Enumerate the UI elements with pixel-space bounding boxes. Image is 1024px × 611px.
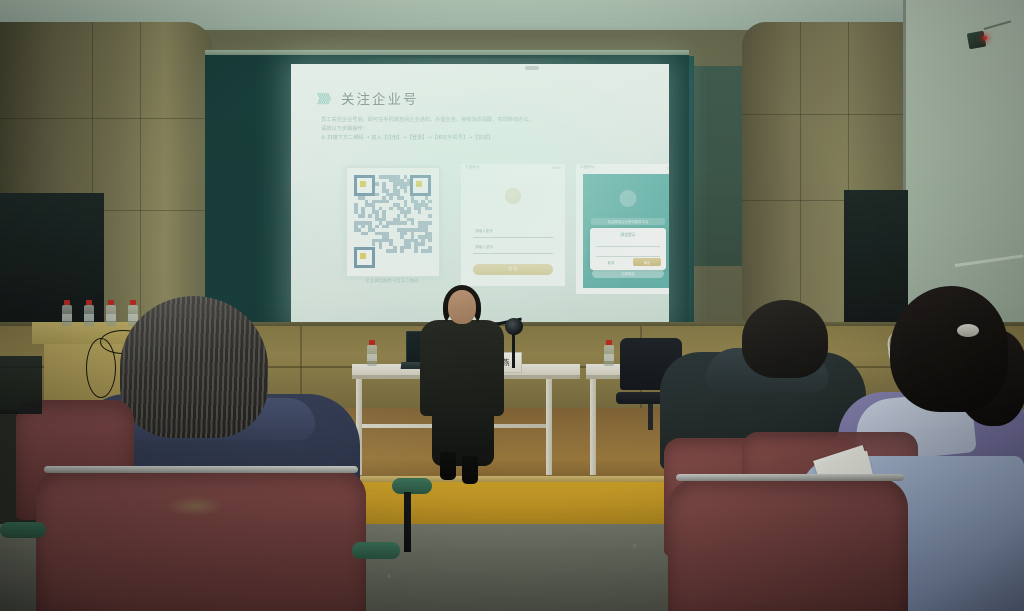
username-placeholder: 请输入账号 bbox=[475, 229, 493, 234]
qr-code-card bbox=[346, 167, 440, 277]
seat-armrest bbox=[0, 522, 46, 538]
seat-armrest bbox=[352, 542, 400, 559]
auditorium-seat-foreground bbox=[668, 478, 908, 611]
phone-carrier: 中国移动 bbox=[580, 165, 594, 170]
attendee-b-hair bbox=[742, 300, 828, 378]
presenter-boot bbox=[462, 456, 478, 484]
lecture-hall-photo: 》》》 关注企业号 员工关注企业号后，即可在手机端查阅企业通知、办理业务、接收消… bbox=[0, 0, 1024, 611]
office-chair-post bbox=[648, 404, 653, 430]
login-button: 登 录 bbox=[473, 264, 553, 275]
phone-status-bar: 中国移动 100% bbox=[576, 164, 669, 171]
water-bottle bbox=[367, 340, 377, 366]
presenter-body bbox=[420, 320, 504, 416]
table-leg bbox=[590, 379, 596, 475]
screen-notch bbox=[525, 66, 539, 70]
seat-scuff bbox=[166, 496, 224, 516]
username-field: 请输入账号 bbox=[473, 226, 553, 238]
av-equipment bbox=[0, 356, 42, 414]
attendee-a-hair bbox=[120, 296, 268, 438]
water-bottle bbox=[604, 340, 614, 366]
slide-title: 》》》 关注企业号 bbox=[317, 88, 419, 108]
slide-title-text: 关注企业号 bbox=[341, 88, 419, 108]
qr-caption: 企业微信服务号官方二维码 bbox=[346, 278, 438, 284]
water-bottle bbox=[106, 300, 116, 326]
seat-armrest bbox=[392, 478, 432, 494]
microphone-pole bbox=[512, 330, 515, 368]
phone-banner: 欢迎使用企业移动服务平台 bbox=[591, 218, 665, 225]
modal-ok-button: 确定 bbox=[633, 258, 661, 266]
phone-status-bar: 中国移动 100% bbox=[461, 164, 565, 171]
slide-body-line: 请按以下步骤操作： bbox=[321, 125, 639, 134]
hair-scrunchie bbox=[957, 324, 979, 337]
modal-title: 绑定提示 bbox=[590, 233, 666, 238]
acoustic-panel-far-right bbox=[694, 66, 742, 266]
qr-finder-top-left bbox=[354, 175, 375, 196]
presenter-boot bbox=[440, 452, 456, 480]
phone-mockup-bind: 中国移动 100% 欢迎使用企业移动服务平台 绑定提示 取消 确定 立即绑定 bbox=[576, 164, 669, 294]
seat-chrome-rim bbox=[676, 474, 904, 481]
water-bottle bbox=[84, 300, 94, 326]
security-light-led-icon bbox=[983, 36, 987, 40]
seat-chrome-rim bbox=[44, 466, 358, 473]
password-field: 请输入密码 bbox=[473, 242, 553, 254]
phone-screen: 欢迎使用企业移动服务平台 绑定提示 取消 确定 立即绑定 bbox=[583, 174, 669, 288]
phone-battery: 100% bbox=[667, 166, 669, 170]
chevron-right-icon: 》》》 bbox=[317, 90, 335, 107]
auditorium-seat-foreground bbox=[36, 470, 366, 611]
security-light bbox=[967, 31, 987, 50]
slide-body: 员工关注企业号后，即可在手机端查阅企业通知、办理业务、接收消息提醒，实现移动办公… bbox=[321, 116, 639, 143]
microphone-icon bbox=[505, 318, 523, 335]
phone-carrier: 中国移动 bbox=[465, 165, 479, 170]
slide-body-line: ① 扫描下方二维码 → 进入【注册】→【登录】→【绑定手机号】→【完成】 bbox=[321, 134, 639, 143]
water-bottle bbox=[62, 300, 72, 326]
modal-dialog: 绑定提示 取消 确定 bbox=[590, 228, 666, 270]
modal-cancel-button: 取消 bbox=[598, 258, 624, 266]
phone-battery: 100% bbox=[552, 166, 561, 170]
qr-finder-bottom-left bbox=[354, 247, 375, 268]
projection-screen: 》》》 关注企业号 员工关注企业号后，即可在手机端查阅企业通知、办理业务、接收消… bbox=[291, 64, 669, 322]
password-placeholder: 请输入密码 bbox=[475, 245, 493, 250]
presenter-head bbox=[448, 290, 476, 324]
phone-mockup-login: 中国移动 100% 请输入账号 请输入密码 登 录 bbox=[461, 164, 565, 286]
seat-armrest-post bbox=[404, 492, 411, 552]
app-logo-icon bbox=[505, 188, 521, 204]
slide-body-line: 员工关注企业号后，即可在手机端查阅企业通知、办理业务、接收消息提醒，实现移动办公… bbox=[321, 116, 639, 125]
bind-button: 立即绑定 bbox=[592, 269, 664, 278]
table-leg bbox=[546, 379, 552, 475]
wall-speaker-right bbox=[844, 190, 908, 328]
qr-finder-top-right bbox=[410, 175, 431, 196]
attendee-c-hair bbox=[890, 286, 1008, 412]
app-logo-icon bbox=[620, 190, 637, 207]
